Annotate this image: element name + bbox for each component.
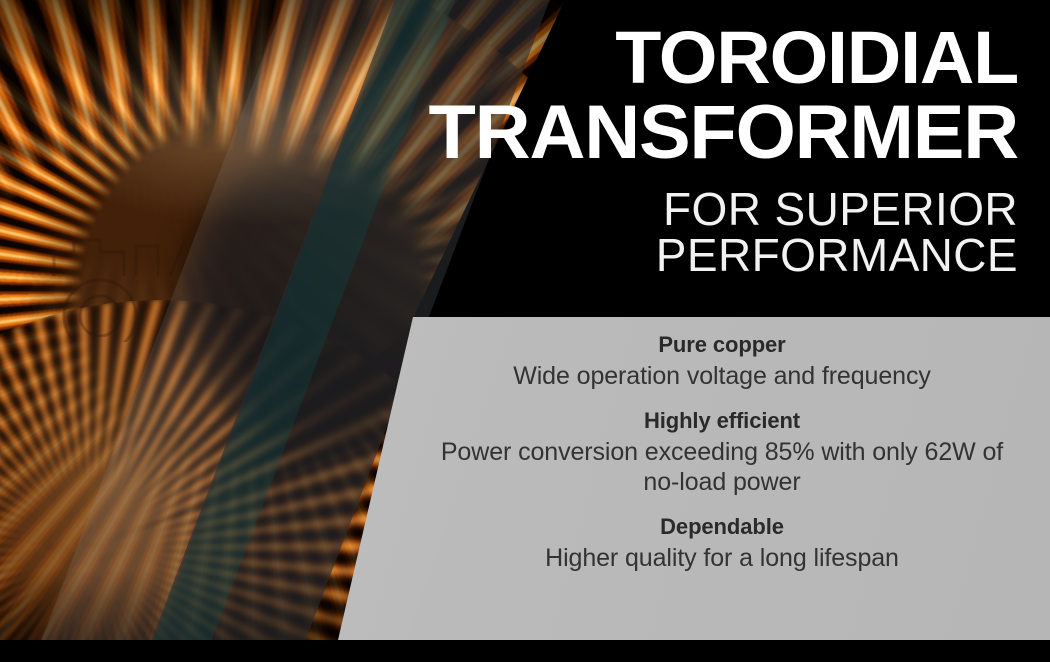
- feature-title: Pure copper: [420, 332, 1024, 359]
- headline-block: TOROIDIAL TRANSFORMER FOR SUPERIOR PERFO…: [430, 22, 1018, 278]
- headline-line-1: TOROIDIAL: [418, 22, 1018, 93]
- feature-description: Wide operation voltage and frequency: [420, 361, 1024, 391]
- feature-item: Highly efficient Power conversion exceed…: [420, 408, 1024, 497]
- feature-title: Highly efficient: [420, 408, 1024, 435]
- feature-list: Pure copper Wide operation voltage and f…: [420, 332, 1024, 573]
- promo-banner: TOROIDIAL TRANSFORMER FOR SUPERIOR PERFO…: [0, 0, 1050, 662]
- feature-item: Pure copper Wide operation voltage and f…: [420, 332, 1024, 391]
- headline-line-2: TRANSFORMER: [418, 97, 1018, 170]
- feature-description: Power conversion exceeding 85% with only…: [420, 437, 1024, 498]
- headline-subtitle: FOR SUPERIOR PERFORMANCE: [430, 186, 1018, 278]
- bottom-black-bar: [0, 640, 1050, 662]
- feature-description: Higher quality for a long lifespan: [420, 543, 1024, 573]
- feature-item: Dependable Higher quality for a long lif…: [420, 514, 1024, 573]
- feature-title: Dependable: [420, 514, 1024, 541]
